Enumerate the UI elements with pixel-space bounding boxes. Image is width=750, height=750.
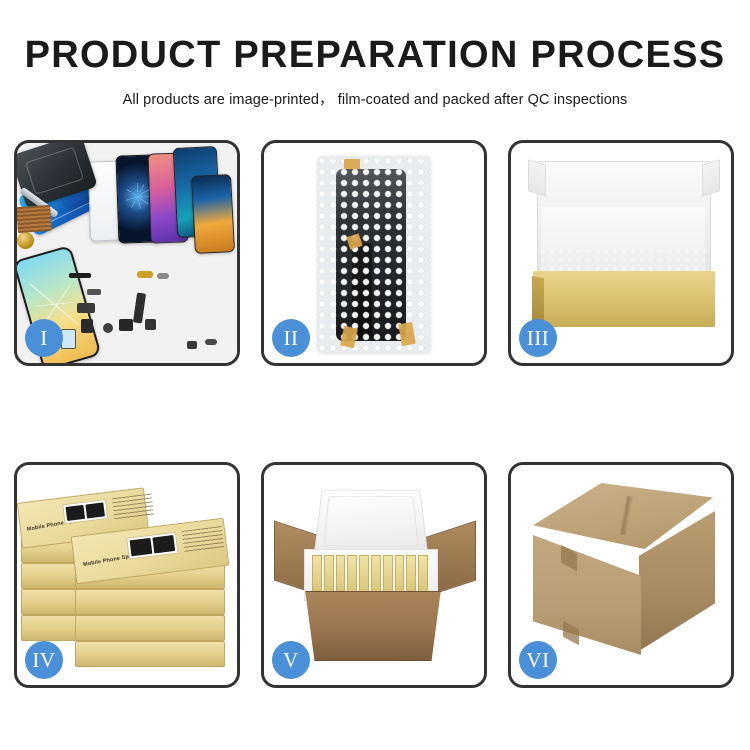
step-badge-4: IV — [25, 641, 63, 679]
component-graphic — [157, 273, 169, 279]
component-graphic — [137, 271, 153, 278]
box-artwork-thumbnail — [126, 532, 178, 560]
tape-strip-graphic — [340, 326, 358, 348]
carton-front-graphic — [296, 591, 450, 661]
box-artwork-thumbnail — [62, 499, 108, 524]
process-steps-grid: I II III — [14, 140, 736, 688]
component-graphic — [81, 319, 93, 333]
component-graphic — [87, 289, 101, 295]
chip-array-graphic — [17, 205, 52, 233]
screen-assembly-graphic — [336, 169, 406, 341]
foam-lid-graphic — [314, 490, 428, 555]
speaker-module-graphic — [17, 232, 34, 249]
step-badge-6: VI — [519, 641, 557, 679]
tape-strip-graphic — [346, 233, 362, 249]
step-badge-2: II — [272, 319, 310, 357]
page-subtitle: All products are image-printed， film-coa… — [0, 88, 750, 109]
component-graphic — [61, 329, 76, 349]
lid-flap-right-graphic — [702, 159, 720, 196]
box-spec-lines — [112, 493, 154, 520]
yellow-boxes-graphic — [312, 555, 428, 593]
tape-strip-graphic — [398, 322, 416, 346]
component-graphic — [119, 319, 133, 331]
component-graphic — [133, 293, 146, 324]
tape-strip-graphic — [344, 159, 360, 169]
phone-gold-graphic — [191, 174, 235, 254]
stacked-box — [75, 589, 225, 615]
component-graphic — [69, 273, 91, 278]
process-step-6: VI — [508, 462, 734, 688]
component-graphic — [187, 341, 197, 349]
step-badge-1: I — [25, 319, 63, 357]
process-step-1: I — [14, 140, 240, 366]
process-step-5: V — [261, 462, 487, 688]
stacked-box — [75, 615, 225, 641]
stacked-box — [75, 641, 225, 667]
process-step-2: II — [261, 140, 487, 366]
flex-cable-graphic — [352, 243, 372, 339]
step-badge-5: V — [272, 641, 310, 679]
page-title: PRODUCT PREPARATION PROCESS — [0, 36, 750, 76]
component-graphic — [77, 303, 95, 313]
component-graphic — [145, 319, 156, 330]
step-badge-3: III — [519, 319, 557, 357]
box-spec-lines — [182, 526, 224, 553]
page-header: PRODUCT PREPARATION PROCESS All products… — [0, 0, 750, 109]
process-step-4: Mobile Phone Spare Parts Mobile Phone Sp… — [14, 462, 240, 688]
component-graphic — [205, 339, 217, 345]
process-step-3: III — [508, 140, 734, 366]
kraft-tray-graphic — [533, 271, 715, 327]
lid-flap-left-graphic — [528, 159, 546, 196]
carton-front-graphic — [533, 535, 641, 655]
component-graphic — [103, 323, 113, 333]
bubble-wrap-graphic — [318, 157, 430, 353]
